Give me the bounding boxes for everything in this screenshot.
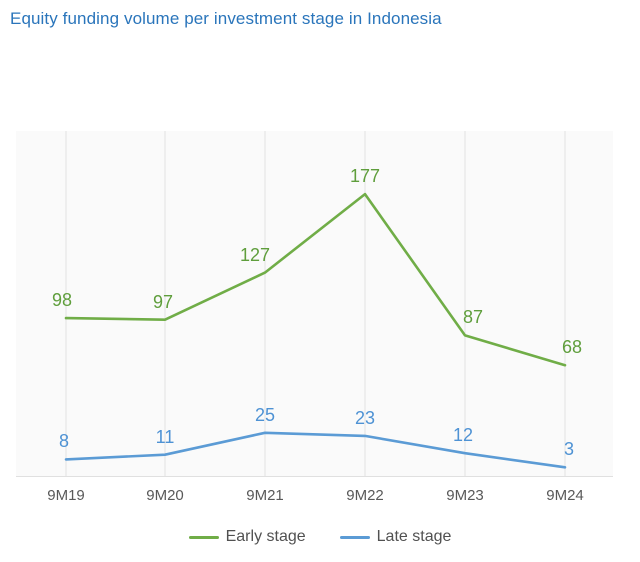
plot-area: 989712717787688112523123 — [16, 131, 613, 477]
x-tick-label-9M21: 9M21 — [246, 487, 284, 504]
x-axis-tick-labels: 9M199M209M219M229M239M24 — [16, 487, 613, 511]
data-label-late-9M21: 25 — [255, 405, 275, 426]
data-label-late-9M22: 23 — [355, 408, 375, 429]
series-paths-group — [66, 194, 565, 467]
data-label-late-9M24: 3 — [564, 439, 574, 460]
data-label-early-9M24: 68 — [562, 337, 582, 358]
chart-container: Equity funding volume per investment sta… — [0, 0, 640, 562]
series-line-early-stage — [66, 194, 565, 365]
line-swatch-blue-icon — [340, 536, 370, 539]
chart-title: Equity funding volume per investment sta… — [10, 9, 442, 29]
data-label-late-9M20: 11 — [156, 427, 175, 448]
data-label-early-9M19: 98 — [52, 290, 72, 311]
x-tick-label-9M23: 9M23 — [446, 487, 484, 504]
data-label-early-9M20: 97 — [153, 292, 173, 313]
data-label-early-9M21: 127 — [240, 245, 270, 266]
legend-item-early-stage[interactable]: Early stage — [189, 528, 306, 546]
gridlines-group — [16, 131, 613, 477]
line-swatch-green-icon — [189, 536, 219, 539]
data-label-late-9M19: 8 — [59, 431, 69, 452]
legend-label: Early stage — [226, 528, 306, 546]
x-tick-label-9M24: 9M24 — [546, 487, 584, 504]
data-label-early-9M22: 177 — [350, 166, 380, 187]
legend-label: Late stage — [377, 528, 452, 546]
x-tick-label-9M19: 9M19 — [47, 487, 85, 504]
data-label-early-9M23: 87 — [463, 307, 483, 328]
x-tick-label-9M22: 9M22 — [346, 487, 384, 504]
plot-svg — [16, 131, 613, 477]
chart-legend: Early stageLate stage — [0, 528, 640, 546]
data-label-late-9M23: 12 — [453, 425, 473, 446]
x-tick-label-9M20: 9M20 — [146, 487, 184, 504]
series-line-late-stage — [66, 433, 565, 468]
legend-item-late-stage[interactable]: Late stage — [340, 528, 452, 546]
